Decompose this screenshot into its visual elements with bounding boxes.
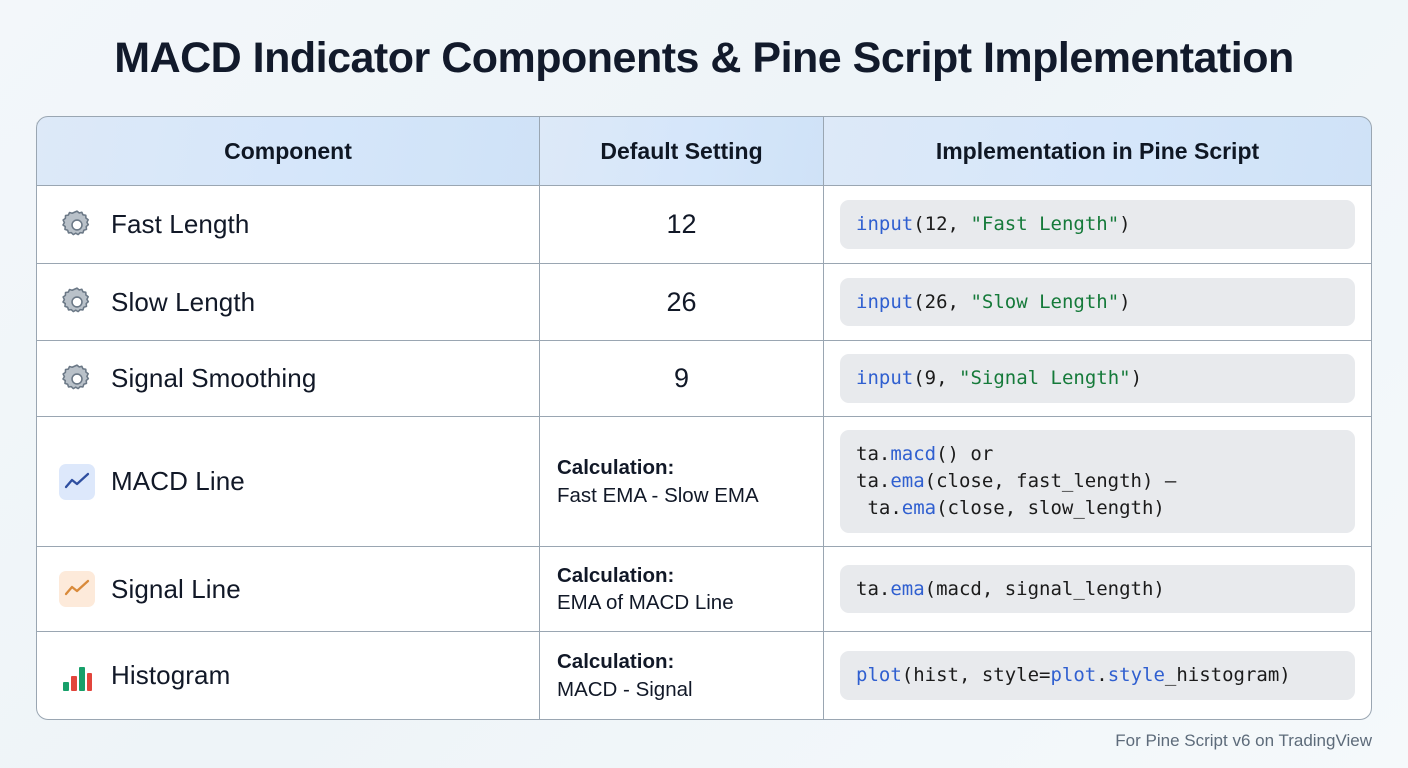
code-snippet[interactable]: plot(hist, style=plot.style_histogram)	[840, 651, 1355, 700]
table-row: Signal Smoothing9input(9, "Signal Length…	[36, 341, 1372, 417]
table-row: Fast Length12input(12, "Fast Length")	[36, 186, 1372, 264]
cell-default-setting: 12	[540, 186, 824, 264]
cell-implementation: ta.ema(macd, signal_length)	[824, 547, 1372, 632]
column-header-default-setting: Default Setting	[540, 116, 824, 186]
setting-calculation: Calculation:EMA of MACD Line	[541, 562, 822, 616]
calculation-label: Calculation:	[557, 562, 822, 589]
code-snippet[interactable]: ta.ema(macd, signal_length)	[840, 565, 1355, 614]
column-header-component: Component	[36, 116, 540, 186]
cell-component: Slow Length	[36, 264, 540, 341]
setting-value: 26	[541, 287, 822, 318]
table-row: Slow Length26input(26, "Slow Length")	[36, 264, 1372, 341]
cell-component: Signal Smoothing	[36, 341, 540, 417]
cell-component: Histogram	[36, 632, 540, 720]
table-row: Signal LineCalculation:EMA of MACD Linet…	[36, 547, 1372, 632]
component-label: Signal Line	[111, 574, 241, 605]
cell-component: Fast Length	[36, 186, 540, 264]
code-snippet[interactable]: ta.macd() or ta.ema(close, fast_length) …	[840, 430, 1355, 533]
calculation-label: Calculation:	[557, 648, 822, 675]
cell-default-setting: Calculation:Fast EMA - Slow EMA	[540, 417, 824, 547]
table-row: HistogramCalculation:MACD - Signalplot(h…	[36, 632, 1372, 720]
cell-implementation: input(26, "Slow Length")	[824, 264, 1372, 341]
cell-implementation: input(12, "Fast Length")	[824, 186, 1372, 264]
gear-icon	[59, 284, 95, 320]
line-chart-blue-icon	[59, 464, 95, 500]
page-title: MACD Indicator Components & Pine Script …	[0, 34, 1408, 83]
gear-icon	[59, 361, 95, 397]
cell-component: Signal Line	[36, 547, 540, 632]
component-label: MACD Line	[111, 466, 245, 497]
cell-implementation: ta.macd() or ta.ema(close, fast_length) …	[824, 417, 1372, 547]
table-row: MACD LineCalculation:Fast EMA - Slow EMA…	[36, 417, 1372, 547]
calculation-formula: MACD - Signal	[557, 676, 822, 703]
code-snippet[interactable]: input(9, "Signal Length")	[840, 354, 1355, 403]
cell-implementation: plot(hist, style=plot.style_histogram)	[824, 632, 1372, 720]
line-chart-orange-icon	[59, 571, 95, 607]
component-label: Slow Length	[111, 287, 255, 318]
histogram-bars-icon	[59, 658, 95, 694]
footer-note: For Pine Script v6 on TradingView	[1115, 731, 1372, 751]
cell-component: MACD Line	[36, 417, 540, 547]
code-snippet[interactable]: input(26, "Slow Length")	[840, 278, 1355, 327]
table-header-row: Component Default Setting Implementation…	[36, 116, 1372, 186]
cell-implementation: input(9, "Signal Length")	[824, 341, 1372, 417]
component-label: Histogram	[111, 660, 230, 691]
setting-calculation: Calculation:MACD - Signal	[541, 648, 822, 702]
components-table: Component Default Setting Implementation…	[36, 116, 1372, 720]
cell-default-setting: Calculation:EMA of MACD Line	[540, 547, 824, 632]
component-label: Fast Length	[111, 209, 249, 240]
calculation-label: Calculation:	[557, 454, 822, 481]
calculation-formula: Fast EMA - Slow EMA	[557, 482, 822, 509]
cell-default-setting: 26	[540, 264, 824, 341]
code-snippet[interactable]: input(12, "Fast Length")	[840, 200, 1355, 249]
cell-default-setting: 9	[540, 341, 824, 417]
setting-calculation: Calculation:Fast EMA - Slow EMA	[541, 454, 822, 508]
infographic-page: MACD Indicator Components & Pine Script …	[0, 0, 1408, 768]
calculation-formula: EMA of MACD Line	[557, 589, 822, 616]
cell-default-setting: Calculation:MACD - Signal	[540, 632, 824, 720]
setting-value: 12	[541, 209, 822, 240]
gear-icon	[59, 207, 95, 243]
component-label: Signal Smoothing	[111, 363, 316, 394]
setting-value: 9	[541, 363, 822, 394]
column-header-implementation: Implementation in Pine Script	[824, 116, 1372, 186]
